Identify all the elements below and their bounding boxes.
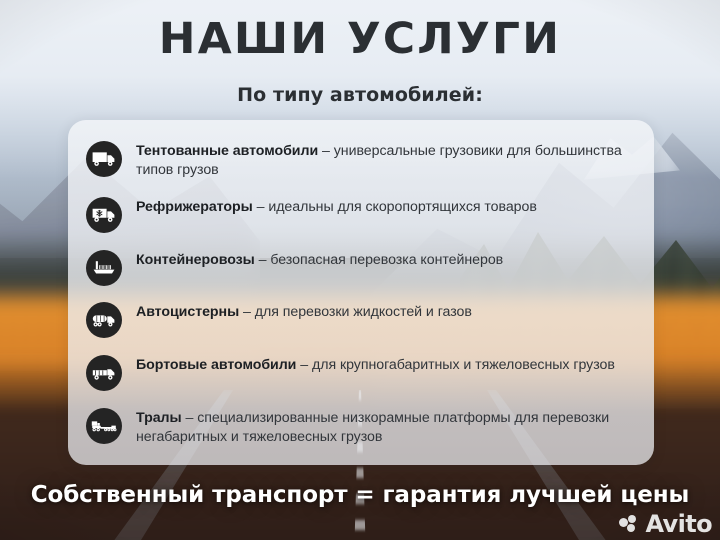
box-truck-icon xyxy=(86,141,122,177)
services-list: Тентованные автомобили – универсальные г… xyxy=(82,132,638,455)
service-description: для перевозки жидкостей и газов xyxy=(255,304,472,320)
list-item[interactable]: Тралы – специализированные низкорамные п… xyxy=(82,407,638,447)
service-dash: – xyxy=(296,357,312,373)
list-item-text: Контейнеровозы – безопасная перевозка ко… xyxy=(136,249,503,270)
list-item[interactable]: Рефрижераторы – идеальны для скоропортящ… xyxy=(82,196,638,233)
service-name: Контейнеровозы xyxy=(136,252,255,268)
list-item-text: Рефрижераторы – идеальны для скоропортящ… xyxy=(136,196,537,217)
service-dash: – xyxy=(182,410,198,426)
service-dash: – xyxy=(239,304,255,320)
page-title: НАШИ УСЛУГИ xyxy=(0,18,720,62)
avito-logo-icon xyxy=(619,515,641,533)
footer-tagline: Собственный транспорт = гарантия лучшей … xyxy=(0,482,720,508)
service-name: Тентованные автомобили xyxy=(136,143,318,159)
service-dash: – xyxy=(318,143,334,159)
service-description: специализированные низкорамные платформы… xyxy=(136,410,609,445)
service-name: Бортовые автомобили xyxy=(136,357,296,373)
list-item[interactable]: Контейнеровозы – безопасная перевозка ко… xyxy=(82,249,638,286)
service-name: Тралы xyxy=(136,410,182,426)
service-description: идеальны для скоропортящихся товаров xyxy=(268,199,537,215)
list-item-text: Тралы – специализированные низкорамные п… xyxy=(136,407,638,447)
list-item-text: Автоцистерны – для перевозки жидкостей и… xyxy=(136,301,472,322)
avito-watermark: Avito xyxy=(619,512,712,536)
services-card: Тентованные автомобили – универсальные г… xyxy=(68,120,654,465)
list-item-text: Бортовые автомобили – для крупногабаритн… xyxy=(136,354,615,375)
lowboy-trailer-icon xyxy=(86,408,122,444)
service-dash: – xyxy=(253,199,269,215)
service-name: Рефрижераторы xyxy=(136,199,253,215)
refrigerated-truck-icon xyxy=(86,197,122,233)
service-dash: – xyxy=(255,252,271,268)
service-description: для крупногабаритных и тяжеловесных груз… xyxy=(312,357,615,373)
list-item[interactable]: Автоцистерны – для перевозки жидкостей и… xyxy=(82,301,638,338)
service-description: безопасная перевозка контейнеров xyxy=(270,252,503,268)
service-name: Автоцистерны xyxy=(136,304,239,320)
container-ship-icon xyxy=(86,250,122,286)
avito-watermark-label: Avito xyxy=(645,512,712,536)
list-item[interactable]: Тентованные автомобили – универсальные г… xyxy=(82,140,638,180)
flatbed-truck-icon xyxy=(86,355,122,391)
tanker-truck-icon xyxy=(86,302,122,338)
list-item[interactable]: Бортовые автомобили – для крупногабаритн… xyxy=(82,354,638,391)
page-subtitle: По типу автомобилей: xyxy=(0,84,720,106)
poster-root: НАШИ УСЛУГИ По типу автомобилей: xyxy=(0,0,720,540)
poster-content: НАШИ УСЛУГИ По типу автомобилей: xyxy=(0,0,720,540)
list-item-text: Тентованные автомобили – универсальные г… xyxy=(136,140,638,180)
